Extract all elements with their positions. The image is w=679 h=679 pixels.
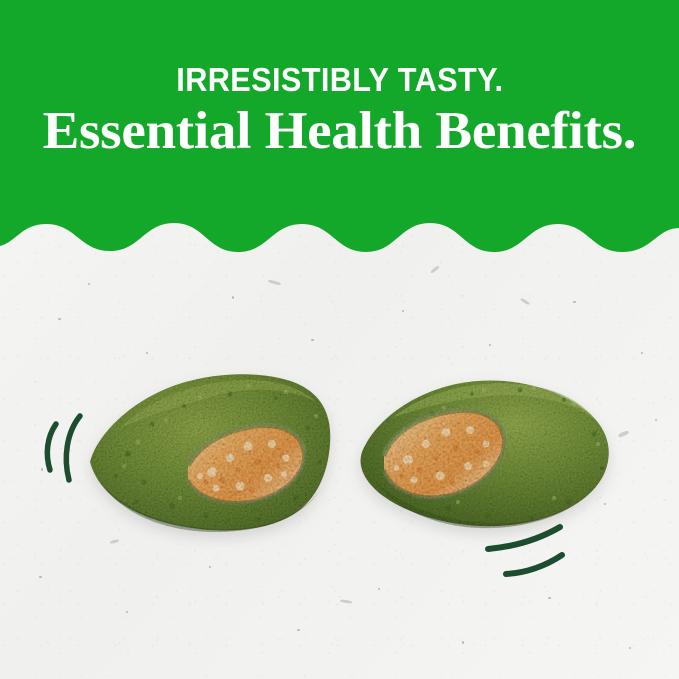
treat-left-half xyxy=(80,358,340,538)
banner-wave-shape xyxy=(0,0,679,258)
green-header-banner xyxy=(0,0,679,258)
treat-right-half xyxy=(348,356,620,536)
product-banner-image: IRRESISTIBLY TASTY. Essential Health Ben… xyxy=(0,0,679,679)
